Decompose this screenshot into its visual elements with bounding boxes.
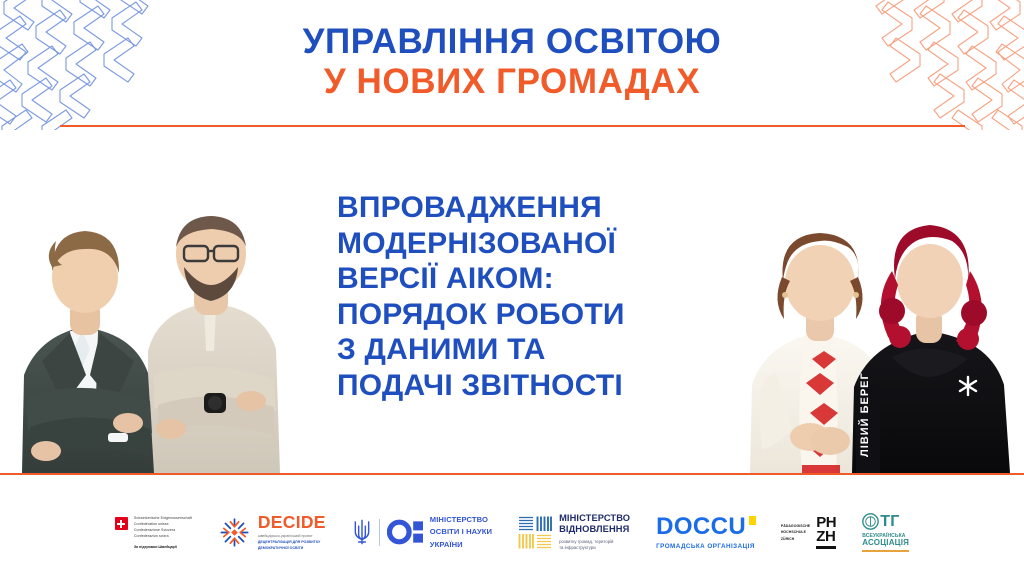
ukraine-trident-icon — [352, 517, 372, 547]
logo-mon-ukraine[interactable]: МІНІСТЕРСТВО ОСВІТИ І НАУКИ УКРАЇНИ — [352, 514, 492, 551]
doccu-wordmark: DOCCU — [656, 515, 755, 539]
doccu-flag-icon — [749, 516, 756, 525]
doccu-subtitle: ГРОМАДСЬКА ОРГАНІЗАЦІЯ — [656, 543, 755, 550]
mon-line-1: МІНІСТЕРСТВО — [430, 514, 492, 526]
otg-circle-icon — [862, 513, 879, 530]
decide-snowflake-icon — [218, 516, 251, 549]
restoration-line-2: ВІДНОВЛЕННЯ — [559, 524, 630, 535]
mon-line-2: ОСВІТИ І НАУКИ — [430, 526, 492, 538]
header-title-line-2: У НОВИХ ГРОМАДАХ — [0, 62, 1024, 102]
speakers-right-illustration: ЛІВИЙ БЕРЕГ — [732, 161, 1024, 473]
logo-divider — [379, 519, 380, 546]
logo-decide[interactable]: DECIDE швейцарсько-український проект ДЕ… — [218, 514, 326, 551]
headline-line-1: ВПРОВАДЖЕННЯ — [337, 190, 737, 226]
person-woman-hoodie: ЛІВИЙ БЕРЕГ — [852, 225, 1010, 473]
phzh-mark-zh: ZH — [816, 530, 836, 544]
swiss-line-rm: Confederaziun svizra — [134, 534, 192, 540]
decide-sub-bottom: ДЕМОКРАТИЧНОЇ ОСВІТИ — [258, 546, 326, 552]
headline-line-4: ПОРЯДОК РОБОТИ — [337, 297, 737, 333]
main-headline: ВПРОВАДЖЕННЯ МОДЕРНІЗОВАНОЇ ВЕРСІЇ АІКОМ… — [337, 190, 737, 403]
person-man-glasses — [148, 216, 280, 473]
divider-top — [60, 125, 965, 127]
headline-line-5: З ДАНИМИ ТА — [337, 332, 737, 368]
logo-ministry-restoration[interactable]: МІНІСТЕРСТВО ВІДНОВЛЕННЯ розвитку громад… — [518, 513, 630, 552]
restoration-grid-icon — [518, 516, 552, 549]
logo-doccu[interactable]: DOCCU ГРОМАДСЬКА ОРГАНІЗАЦІЯ — [656, 515, 755, 550]
otg-mark-text: ТГ — [880, 514, 899, 530]
logo-phzh[interactable]: PÄDAGOGISCHE HOCHSCHULE ZÜRICH PH ZH — [781, 516, 836, 549]
partner-logos-strip: Schweizerische Eidgenossenschaft Confédé… — [0, 489, 1024, 576]
person-man-blazer — [22, 231, 154, 473]
banner-header: УПРАВЛІННЯ ОСВІТОЮ У НОВИХ ГРОМАДАХ — [0, 22, 1024, 102]
logo-swiss-confederation[interactable]: Schweizerische Eidgenossenschaft Confédé… — [115, 516, 192, 548]
phzh-mark: PH ZH — [816, 516, 836, 549]
headline-line-2: МОДЕРНІЗОВАНОЇ — [337, 226, 737, 262]
swiss-support-text: За підтримки Швейцарії — [134, 545, 192, 549]
mon-emblem-icon — [387, 518, 423, 546]
header-title-line-1: УПРАВЛІННЯ ОСВІТОЮ — [0, 22, 1024, 62]
phzh-bar — [816, 546, 836, 549]
decide-wordmark: DECIDE — [258, 514, 326, 532]
speakers-photo-right: ЛІВИЙ БЕРЕГ — [732, 161, 1024, 473]
restoration-sub-1: розвитку громад, територій — [559, 539, 630, 546]
restoration-line-1: МІНІСТЕРСТВО — [559, 513, 630, 524]
speakers-left-illustration — [8, 161, 338, 473]
doccu-word-text: DOCCU — [656, 513, 746, 540]
banner-stage: УПРАВЛІННЯ ОСВІТОЮ У НОВИХ ГРОМАДАХ ВПРО… — [0, 0, 1024, 576]
decide-sub-mid: ДЕЦЕНТРАЛІЗАЦІЯ ДЛЯ РОЗВИТКУ — [258, 540, 326, 546]
headline-line-3: ВЕРСІЇ АІКОМ: — [337, 261, 737, 297]
mon-line-3: УКРАЇНИ — [430, 539, 492, 551]
swiss-cross-icon — [115, 517, 128, 530]
hoodie-brand-text: ЛІВИЙ БЕРЕГ — [858, 372, 871, 457]
phzh-line-3: ZÜRICH — [781, 536, 810, 542]
logo-otg-association[interactable]: ТГ ВСЕУКРАЇНСЬКА АСОЦІАЦІЯ — [862, 513, 909, 551]
divider-bottom — [0, 473, 1024, 475]
speakers-photo-left — [8, 161, 338, 473]
otg-sub-2: АСОЦІАЦІЯ — [862, 539, 909, 548]
phzh-line-2: HOCHSCHULE — [781, 529, 810, 535]
restoration-sub-2: та інфраструктури — [559, 545, 630, 552]
headline-line-6: ПОДАЧІ ЗВІТНОСТІ — [337, 368, 737, 404]
otg-underline — [862, 550, 909, 552]
